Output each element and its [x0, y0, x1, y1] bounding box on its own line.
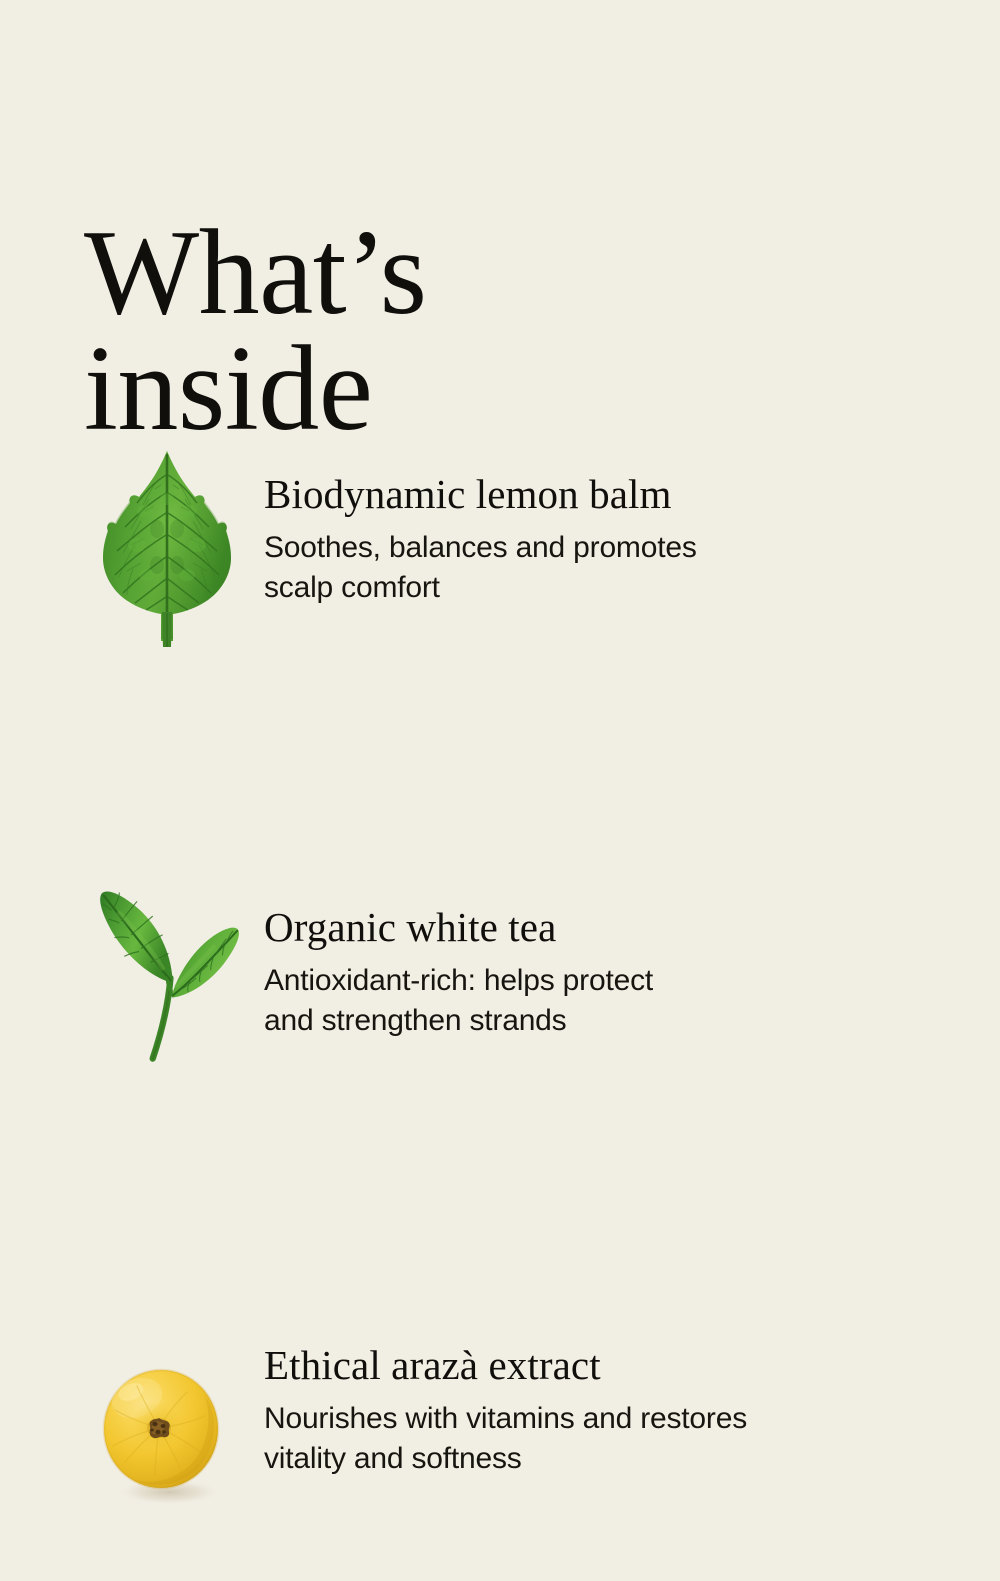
ingredient-copy: Ethical arazà extract Nourishes with vit…	[264, 1344, 964, 1479]
ingredient-title: Biodynamic lemon balm	[264, 473, 964, 516]
ingredient-description: Soothes, balances and promotes scalp com…	[264, 528, 964, 608]
araza-fruit-icon	[84, 1366, 249, 1581]
list-item: Biodynamic lemon balm Soothes, balances …	[0, 437, 1000, 654]
page-title: What’s inside	[84, 215, 704, 447]
ingredient-title: Ethical arazà extract	[264, 1344, 964, 1387]
list-item: Organic white tea Antioxidant-rich: help…	[0, 654, 1000, 876]
list-item: Ethical arazà extract Nourishes with vit…	[0, 876, 1000, 1093]
ingredient-list: Biodynamic lemon balm Soothes, balances …	[0, 437, 1000, 1093]
lemon-balm-leaf-icon	[84, 449, 249, 664]
whats-inside-panel: What’s inside	[0, 0, 1000, 1249]
ingredient-description: Nourishes with vitamins and restores vit…	[264, 1399, 964, 1479]
ingredient-copy: Biodynamic lemon balm Soothes, balances …	[264, 473, 964, 608]
